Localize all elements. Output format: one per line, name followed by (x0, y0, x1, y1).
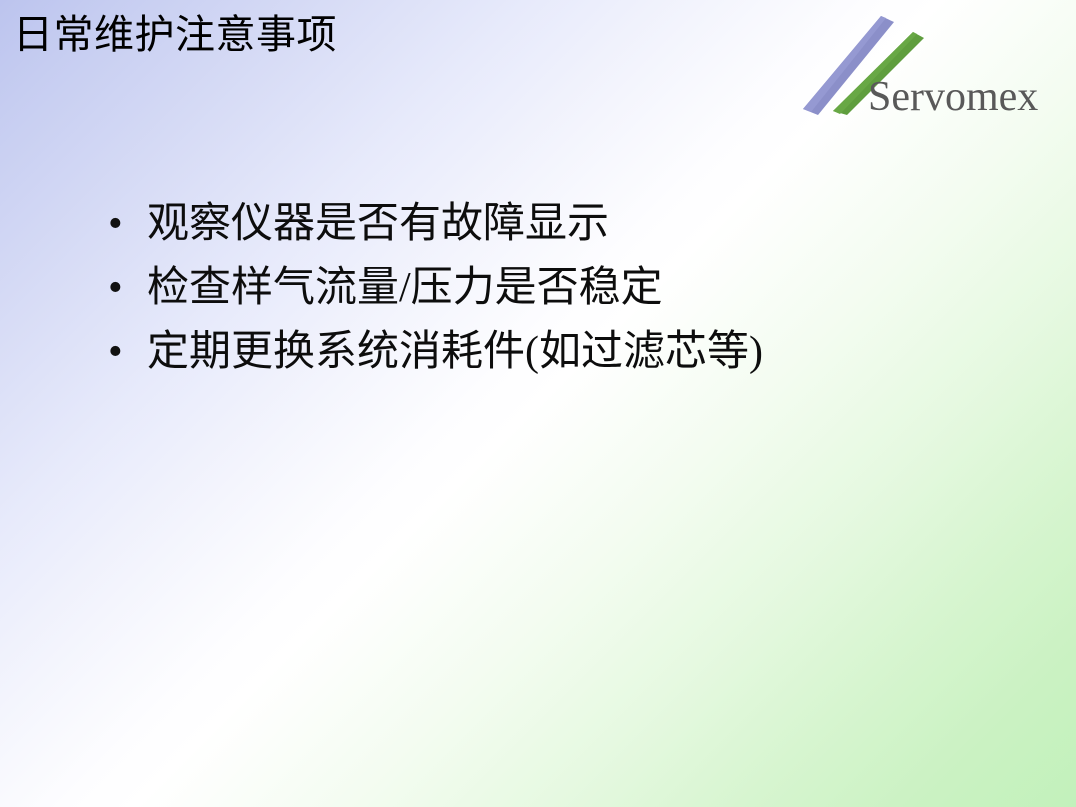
list-item-label: 定期更换系统消耗件(如过滤芯等) (147, 324, 1008, 380)
servomex-logo: Servomex (793, 14, 1068, 126)
logo-wordmark: Servomex (868, 76, 1038, 118)
presentation-slide: 日常维护注意事项 Servomex • 观察仪器是否有故障显示 • 检查样气流量… (0, 0, 1076, 807)
list-item: • 观察仪器是否有故障显示 (108, 196, 1008, 260)
bullet-marker-icon: • (108, 196, 147, 252)
list-item: • 定期更换系统消耗件(如过滤芯等) (108, 324, 1008, 388)
bullet-list: • 观察仪器是否有故障显示 • 检查样气流量/压力是否稳定 • 定期更换系统消耗… (108, 196, 1008, 388)
list-item-label: 观察仪器是否有故障显示 (147, 196, 1008, 252)
page-title: 日常维护注意事项 (13, 11, 337, 59)
bullet-marker-icon: • (108, 260, 147, 316)
list-item: • 检查样气流量/压力是否稳定 (108, 260, 1008, 324)
list-item-label: 检查样气流量/压力是否稳定 (147, 260, 1008, 316)
bullet-marker-icon: • (108, 324, 147, 380)
